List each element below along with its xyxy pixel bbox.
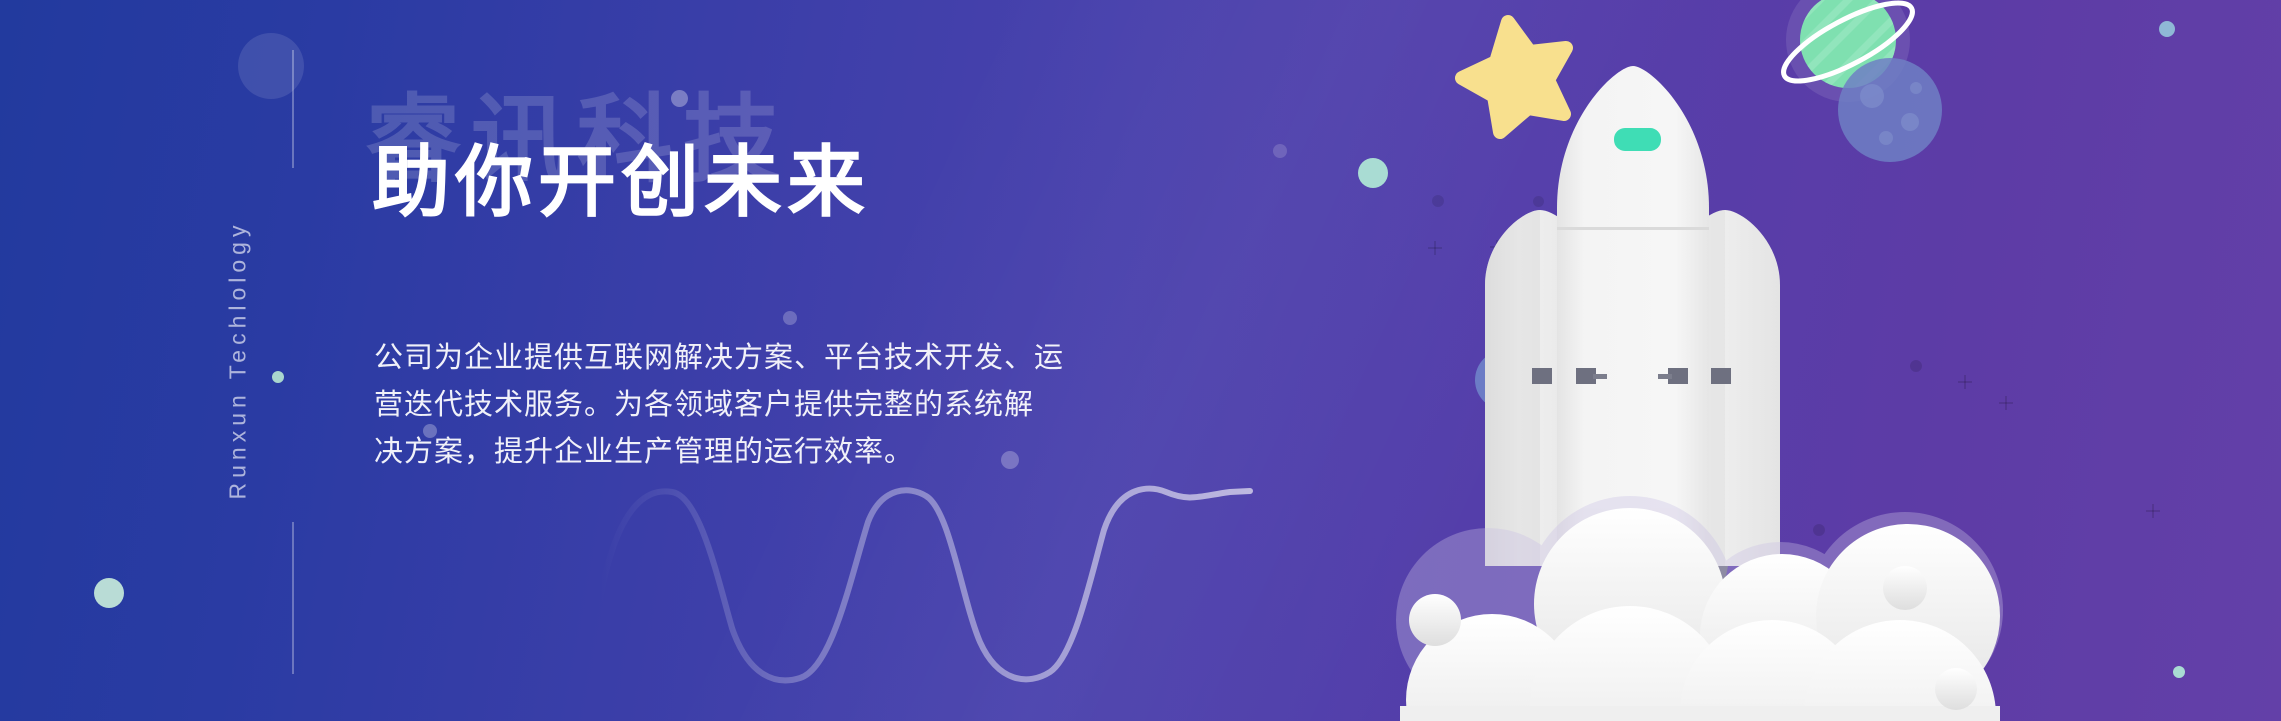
subtitle-line-3: 决方案，提升企业生产管理的运行效率。 xyxy=(374,429,1154,476)
float-dot-a xyxy=(1409,594,1461,646)
subtitle-line-2: 营迭代技术服务。为各领域客户提供完整的系统解 xyxy=(374,382,1154,429)
rocket-illustration xyxy=(1380,0,2281,721)
hero-banner: Runxun Techlology 睿讯科技 助你开创未来 公司为企业提供互联网… xyxy=(0,0,2281,721)
moon-sphere xyxy=(1838,58,1942,162)
decor-dot-large-blue xyxy=(238,33,304,99)
float-dot-b xyxy=(1883,566,1927,610)
float-dot-c xyxy=(1935,668,1977,710)
subtitle-paragraph: 公司为企业提供互联网解决方案、平台技术开发、运 营迭代技术服务。为各领域客户提供… xyxy=(374,335,1154,476)
vertical-tagline: Runxun Techlology xyxy=(225,221,252,500)
decor-dot-white-b xyxy=(783,311,797,325)
vertical-rule-bottom xyxy=(292,522,294,674)
subtitle-line-1: 公司为企业提供互联网解决方案、平台技术开发、运 xyxy=(374,335,1154,382)
decor-dot-dim-a xyxy=(1273,144,1287,158)
decor-dot-mint-small xyxy=(272,371,284,383)
star-shape xyxy=(1462,22,1566,132)
rocket-window xyxy=(1614,128,1661,151)
decor-dot-mint-left xyxy=(94,578,124,608)
sine-wave-graphic xyxy=(600,460,1260,690)
main-rocket-body xyxy=(1557,66,1709,566)
page-title: 助你开创未来 xyxy=(372,140,870,226)
